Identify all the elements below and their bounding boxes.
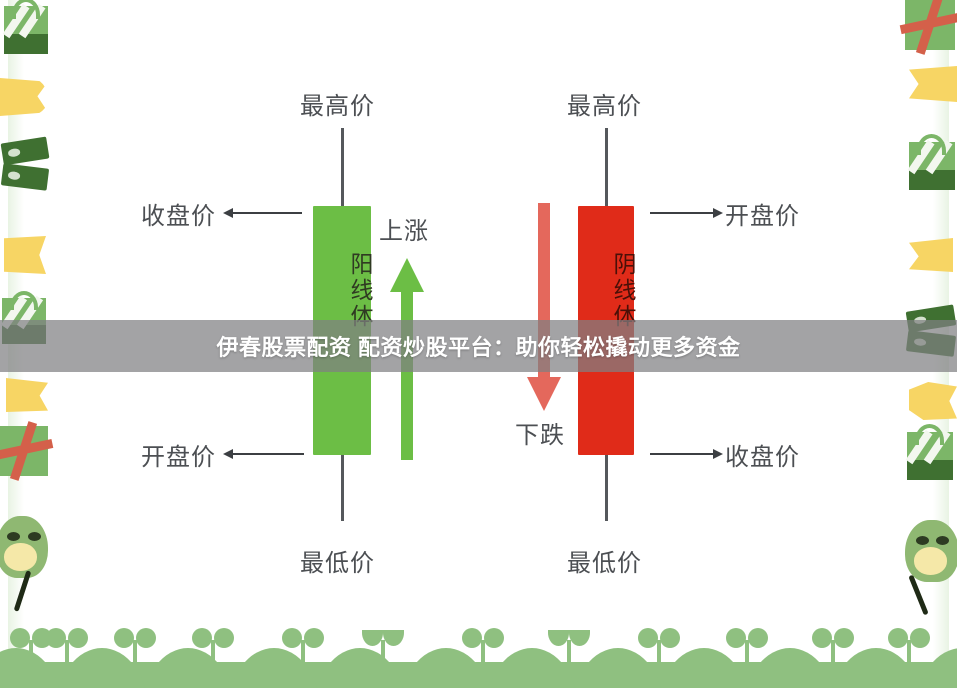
arrow-right-close [650,453,714,455]
label-right-low: 最低价 [567,543,642,578]
label-right-high: 最高价 [567,86,642,121]
label-right-open: 开盘价 [725,196,800,231]
bullish-body-label: 阳线体 [313,252,371,330]
label-right-trend: 下跌 [515,415,565,450]
up-arrow-shaft [401,290,413,460]
bearish-body-label: 阴线体 [578,252,634,330]
overlay-banner: 伊春股票配资 配资炒股平台：助你轻松撬动更多资金 [0,320,957,372]
label-left-trend: 上涨 [379,211,429,246]
label-left-high: 最高价 [300,86,375,121]
bearish-lower-wick [605,455,608,521]
page-root: 最高价 阳线体 收盘价 开盘价 最低价 上涨 最高价 阴线体 开盘价 收盘价 最… [0,0,957,688]
banner-title: 伊春股票配资 配资炒股平台：助你轻松撬动更多资金 [216,330,740,362]
bearish-upper-wick [605,128,608,206]
label-left-open: 开盘价 [141,437,216,472]
label-right-close: 收盘价 [725,437,800,472]
bullish-lower-wick [341,455,344,521]
down-arrow-head [527,377,561,411]
arrow-left-open [232,453,304,455]
label-left-close: 收盘价 [141,196,216,231]
up-arrow-head [390,258,424,292]
arrow-right-open [650,212,714,214]
down-trend-arrow [527,203,561,411]
arrow-left-close [232,212,302,214]
bullish-upper-wick [341,128,344,206]
label-left-low: 最低价 [300,543,375,578]
